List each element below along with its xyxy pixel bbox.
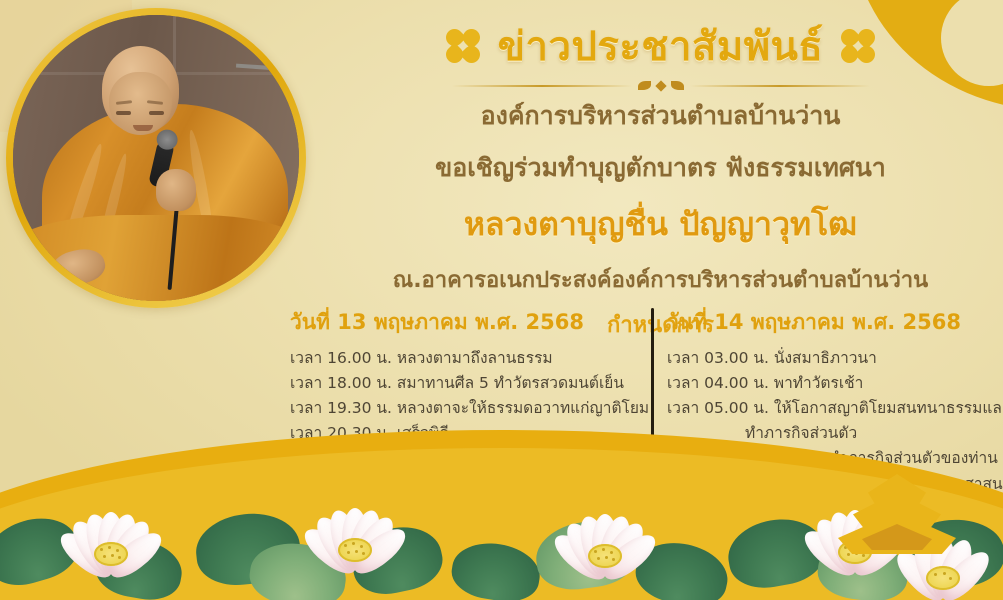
day2-item: เวลา 05.00 น. ให้โอกาสญาติโยมสนทนาธรรมแล… [667,396,993,421]
title-row: ข่าวประชาสัมพันธ์ [318,14,1003,78]
page-title: ข่าวประชาสัมพันธ์ [498,14,824,78]
monk-name: หลวงตาบุญชื่น ปัญญาวุทโฒ [318,199,1003,250]
day1-item: เวลา 19.30 น. หลวงตาจะให้ธรรมดอวาทแก่ญาต… [290,396,623,421]
poster-canvas: ข่าวประชาสัมพันธ์ องค์การบริหารส่วนตำบลบ… [0,0,1003,600]
lotus-center [94,542,128,566]
monk-portrait-frame [6,8,306,308]
lotus-leaf [448,537,544,600]
lotus-flower [46,486,176,582]
flower-ornament-icon-left [446,29,480,63]
day2-date-title: วันที่ 14 พฤษภาคม พ.ศ. 2568 [667,306,993,339]
lotus-center [926,566,960,590]
flower-ornament-icon-right [841,29,875,63]
monk-eye [149,111,164,115]
day1-date-title: วันที่ 13 พฤษภาคม พ.ศ. 2568 [290,306,623,339]
headline-block: ข่าวประชาสัมพันธ์ องค์การบริหารส่วนตำบลบ… [318,14,1003,342]
lotus-center [588,544,622,568]
day2-item: เวลา 04.00 น. พาทำวัตรเช้า [667,371,993,396]
pagoda-roof-ornament-icon [837,462,957,554]
lotus-center [338,538,372,562]
organization-name: องค์การบริหารส่วนตำบลบ้านว่าน [318,96,1003,136]
day1-item: เวลา 16.00 น. หลวงตามาถึงลานธรรม [290,346,623,371]
invitation-text: ขอเชิญร่วมทำบุญตักบาตร ฟังธรรมเทศนา [318,148,1003,188]
monk-hand-holding-mic [156,169,196,211]
lotus-flower [540,488,670,584]
day1-item: เวลา 18.00 น. สมาทานศีล 5 ทำวัตรสวดมนต์เ… [290,371,623,396]
monk-portrait-image [13,15,299,301]
lotus-flower [290,482,420,578]
venue-text: ณ.อาคารอเนกประสงค์องค์การบริหารส่วนตำบลบ… [318,262,1003,297]
monk-eye [116,111,131,115]
title-divider-ornament [318,81,1003,90]
day2-item: เวลา 03.00 น. นั่งสมาธิภาวนา [667,346,993,371]
